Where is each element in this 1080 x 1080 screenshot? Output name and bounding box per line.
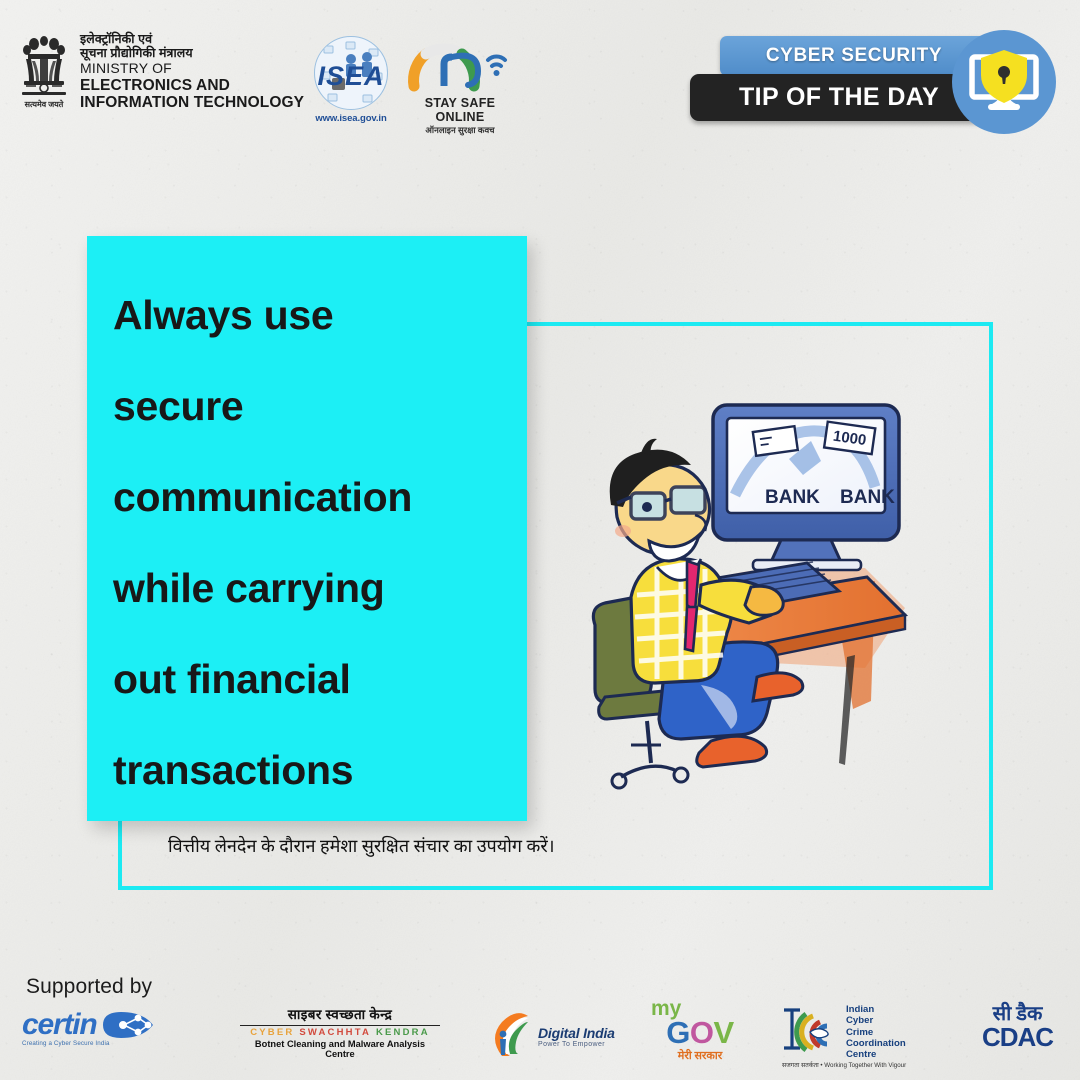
i4c-logo-icon (780, 1004, 842, 1060)
meity-hindi-line-2: सूचना प्रौद्योगिकी मंत्रालय (80, 46, 304, 60)
meity-english-line-3: INFORMATION TECHNOLOGY (80, 94, 304, 111)
india-state-emblem-icon: सत्यमेव जयते (18, 30, 70, 114)
csk-hindi: साइबर स्वच्छता केन्द्र (240, 1005, 440, 1023)
screen-label-right: BANK (840, 487, 895, 508)
csk-word-2: SWACHHTA (299, 1027, 371, 1038)
supported-by-label: Supported by (26, 975, 152, 999)
meity-logo: सत्यमेव जयते इलेक्ट्रॉनिकी एवं सूचना प्र… (18, 30, 304, 114)
i4c-logo: Indian Cyber Crime Coordination Centre स… (780, 1004, 906, 1061)
tip-line: Always use (113, 270, 497, 361)
tip-of-the-day-bar: TIP OF THE DAY (690, 74, 988, 121)
emblem-motto: सत्यमेव जयते (24, 99, 64, 109)
tip-line: while carrying (113, 543, 497, 634)
monitor-shield-lock-icon (952, 30, 1056, 134)
cyber-swachhta-kendra-logo: साइबर स्वच्छता केन्द्र CYBER SWACHHTA KE… (240, 1005, 440, 1059)
screen-label-left: BANK (765, 487, 820, 508)
tip-line: secure (113, 361, 497, 452)
digital-india-title: Digital India (538, 1025, 615, 1041)
stay-safe-online-logo: STAY SAFE ONLINE ऑनलाइन सुरक्षा कवच (404, 34, 516, 136)
certin-tagline: Creating a Cyber Secure India (22, 1040, 202, 1047)
cyber-security-bar: CYBER SECURITY (720, 36, 988, 76)
isea-url: www.isea.gov.in (305, 113, 397, 124)
certin-logo-icon (101, 1010, 155, 1040)
tip-text-panel: Always use secure communication while ca… (87, 236, 527, 821)
digital-india-logo: Digital India Power To Empower (490, 1012, 615, 1060)
i4c-tagline: सजगता सतर्कता • Working Together With Vi… (782, 1060, 906, 1069)
mygov-hindi: मेरी सरकार (645, 1048, 755, 1063)
isea-circle-icon: ISEA (314, 36, 388, 110)
tip-hindi-translation: वित्तीय लेनदेन के दौरान हमेशा सुरक्षित स… (168, 833, 568, 861)
i4c-line-5: Centre (846, 1049, 906, 1060)
cyber-security-label: CYBER SECURITY (720, 36, 988, 76)
mygov-gov: GOV (645, 1019, 755, 1048)
meity-hindi-line-1: इलेक्ट्रॉनिकी एवं (80, 32, 304, 46)
csk-subtitle: Botnet Cleaning and Malware Analysis Cen… (240, 1039, 440, 1059)
tip-line: out financial (113, 634, 497, 725)
tip-line: communication (113, 452, 497, 543)
meity-english-line-1: MINISTRY OF (80, 61, 304, 77)
certin-logo: certin Creating a Cyber Secure India (22, 1008, 202, 1047)
tip-line: transactions (113, 725, 497, 816)
cdac-hindi: सी डैक (965, 1004, 1070, 1024)
i4c-line-1: Indian (846, 1004, 906, 1015)
stay-safe-online-subtitle: ऑनलाइन सुरक्षा कवच (404, 125, 516, 136)
tip-of-the-day-label: TIP OF THE DAY (690, 74, 988, 121)
digital-india-logo-icon (490, 1012, 532, 1060)
tip-of-the-day-badge: CYBER SECURITY TIP OF THE DAY (690, 26, 1060, 138)
csk-divider (240, 1025, 440, 1026)
cdac-logo: सी डैक CDAC (965, 1004, 1070, 1051)
man-at-computer-bank-transfer-illustration: 1000 BANK BANK (575, 385, 975, 805)
isea-wordmark: ISEA (315, 61, 387, 92)
i4c-line-2: Cyber (846, 1015, 906, 1026)
isea-logo: ISEA www.isea.gov.in (305, 36, 397, 124)
csk-english: CYBER SWACHHTA KENDRA (240, 1027, 440, 1038)
mygov-logo: my GOV मेरी सरकार (645, 1000, 755, 1063)
meity-english-line-2: ELECTRONICS AND (80, 77, 304, 94)
poster-header: सत्यमेव जयते इलेक्ट्रॉनिकी एवं सूचना प्र… (0, 0, 1080, 150)
csk-word-1: CYBER (250, 1027, 294, 1038)
digital-india-tagline: Power To Empower (538, 1041, 615, 1048)
i4c-line-4: Coordination (846, 1038, 906, 1049)
stay-safe-online-icon (404, 34, 516, 96)
certin-wordmark: certin (22, 1008, 97, 1042)
cdac-english: CDAC (965, 1024, 1070, 1051)
csk-word-3: KENDRA (376, 1027, 430, 1038)
stay-safe-online-title: STAY SAFE ONLINE (404, 96, 516, 124)
i4c-line-3: Crime (846, 1027, 906, 1038)
